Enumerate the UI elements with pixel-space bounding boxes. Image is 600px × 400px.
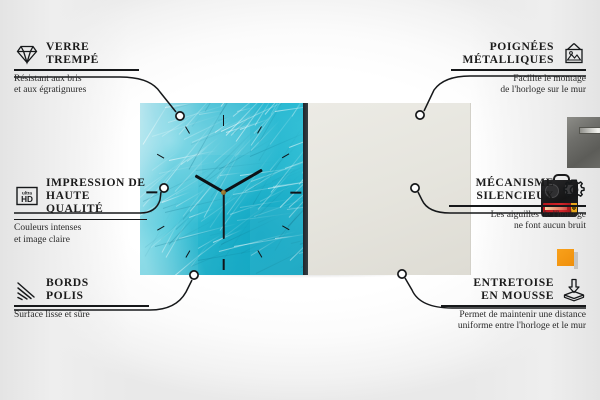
- feather-panel: [140, 175, 198, 275]
- svg-text:HD: HD: [21, 195, 33, 204]
- clock-back-panel: [308, 103, 471, 275]
- clock-second-hand: [223, 192, 225, 239]
- feature-poignees-metalliques[interactable]: POIGNÉESMÉTALLIQUES Facilite le montaged…: [451, 40, 586, 97]
- diamond-icon: [14, 41, 39, 66]
- feature-title: POIGNÉESMÉTALLIQUES: [462, 40, 554, 66]
- title-rule: [14, 305, 149, 306]
- feature-verre-trempe[interactable]: VERRETREMPÉ Résistant aux briset aux égr…: [14, 40, 139, 97]
- feather-panel: [202, 103, 250, 155]
- title-rule: [451, 69, 586, 70]
- feature-title: BORDSPOLIS: [46, 276, 89, 302]
- feature-impression-haute-qualite[interactable]: ultra HD IMPRESSION DEHAUTE QUALITÉ Coul…: [14, 176, 147, 246]
- feature-description: Facilite le montagede l'horloge sur le m…: [451, 74, 586, 97]
- title-rule: [449, 205, 586, 206]
- feature-entretoise-en-mousse[interactable]: ENTRETOISEEN MOUSSE Permet de maintenir …: [441, 276, 586, 333]
- clock-tick: [223, 115, 225, 126]
- title-rule: [441, 305, 586, 306]
- feature-description: Les aiguilles de l'horlogene font aucun …: [449, 210, 586, 233]
- hanger-plate-slot: [579, 127, 600, 134]
- clock-tick: [223, 259, 225, 270]
- ultra-hd-badge-icon: ultra HD: [14, 183, 39, 208]
- feature-title: MÉCANISMESILENCIEUX: [476, 176, 554, 202]
- feature-title: IMPRESSION DEHAUTE QUALITÉ: [46, 176, 147, 216]
- feature-description: Couleurs intenseset image claire: [14, 223, 147, 246]
- clock-tick: [146, 191, 157, 193]
- infographic-canvas: VERRETREMPÉ Résistant aux briset aux égr…: [0, 0, 600, 400]
- diagonal-lines-icon: [14, 277, 39, 302]
- feather-panel: [250, 207, 307, 275]
- feature-description: Résistant aux briset aux égratignures: [14, 74, 139, 97]
- feature-description: Surface lisse et sûre: [14, 310, 149, 321]
- foam-spacer: [557, 249, 574, 266]
- foam-spacer-shadow: [574, 252, 578, 269]
- title-rule: [14, 219, 147, 220]
- feature-title: VERRETREMPÉ: [46, 40, 99, 66]
- title-rule: [14, 69, 139, 70]
- product-photo: [140, 103, 470, 275]
- clock-face: [140, 103, 307, 275]
- feather-panel: [140, 103, 202, 175]
- arrow-down-onto-pad-icon: [561, 277, 586, 302]
- gear-icon: [561, 177, 586, 202]
- clock-center-cap: [221, 190, 226, 195]
- clock-tick: [290, 191, 301, 193]
- picture-frame-hanger-icon: [561, 41, 586, 66]
- metal-hanger-plate: [567, 117, 600, 168]
- feature-title: ENTRETOISEEN MOUSSE: [473, 276, 554, 302]
- feature-mecanisme-silencieux[interactable]: MÉCANISMESILENCIEUX Les aiguilles de l'h…: [449, 176, 586, 233]
- feature-description: Permet de maintenir une distanceuniforme…: [441, 310, 586, 333]
- feature-bords-polis[interactable]: BORDSPOLIS Surface lisse et sûre: [14, 276, 149, 321]
- clock-tempered-glass-edge: [303, 103, 308, 275]
